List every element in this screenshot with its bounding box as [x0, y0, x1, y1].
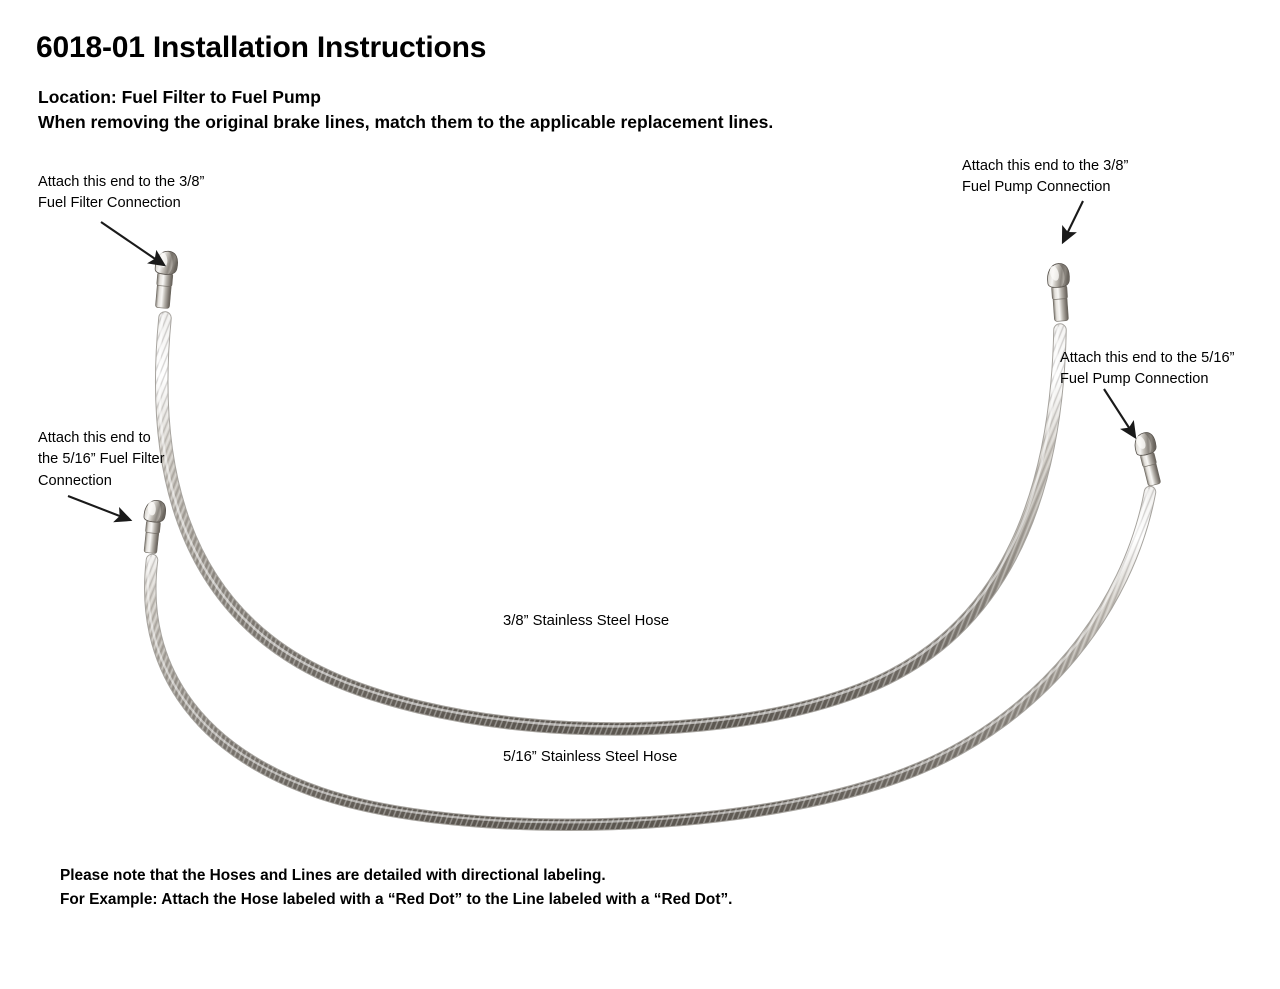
match-instruction-line: When removing the original brake lines, … [38, 111, 773, 134]
arrow-down-right-icon [101, 222, 164, 265]
fitting-38-fuel-pump [1046, 263, 1072, 322]
arrow-down-left-icon [1063, 201, 1083, 242]
arrow-down-right-icon [1104, 389, 1135, 437]
fitting-516-fuel-pump [1132, 431, 1165, 488]
installation-instructions-page: 6018-01 Installation Instructions Locati… [0, 0, 1280, 989]
callout-38-fuel-filter: Attach this end to the 3/8” Fuel Filter … [38, 172, 204, 215]
fitting-ferrule [1053, 297, 1069, 322]
callout-38-fuel-pump: Attach this end to the 3/8” Fuel Pump Co… [962, 156, 1128, 199]
hose-diagram [0, 0, 1280, 989]
fitting-collar [145, 520, 160, 533]
fitting-ferrule [144, 530, 159, 553]
arrow-down-right-icon [68, 496, 130, 520]
note-red-dot-example: For Example: Attach the Hose labeled wit… [60, 888, 732, 911]
fitting-516-fuel-filter [140, 499, 166, 554]
hose-38-braid-shadow [162, 318, 1060, 729]
callout-arrows [68, 201, 1135, 520]
hose-38-label: 3/8” Stainless Steel Hose [503, 612, 669, 631]
hose-516-label: 5/16” Stainless Steel Hose [503, 748, 677, 767]
location-line: Location: Fuel Filter to Fuel Pump [38, 86, 321, 109]
page-title: 6018-01 Installation Instructions [36, 28, 486, 67]
note-directional-labeling: Please note that the Hoses and Lines are… [60, 864, 606, 887]
callout-516-fuel-filter: Attach this end to the 5/16” Fuel Filter… [38, 428, 165, 492]
hose-38-assembly [152, 250, 1073, 729]
fitting-ferrule [155, 283, 171, 308]
callout-516-fuel-pump: Attach this end to the 5/16” Fuel Pump C… [1060, 348, 1234, 391]
